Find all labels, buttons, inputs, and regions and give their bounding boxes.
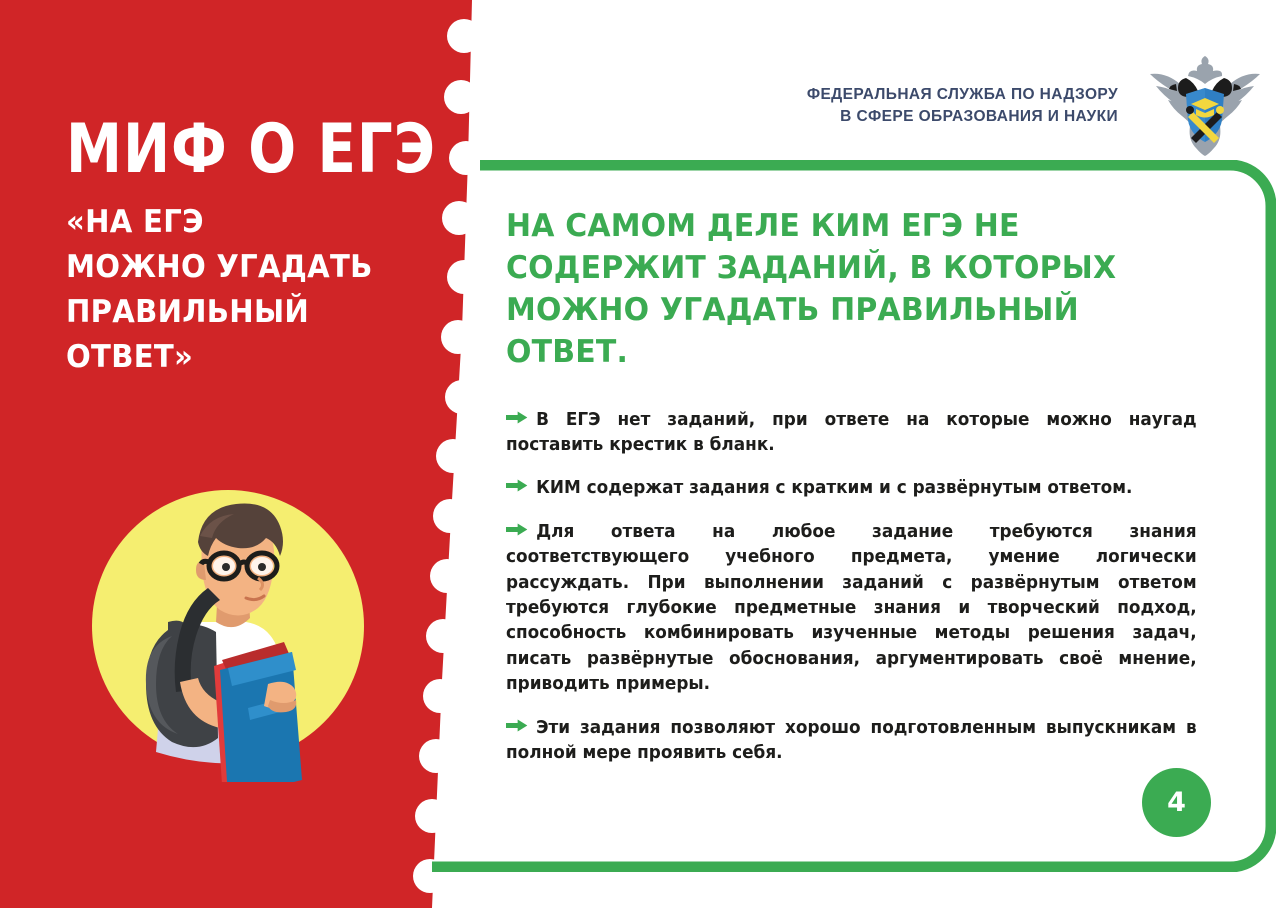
myth-quote-line: ПРАВИЛЬНЫЙ [66,290,404,335]
myth-quote-line: «НА ЕГЭ [66,200,404,245]
green-right-arrow-icon [506,479,527,492]
page-title: МИФ О ЕГЭ [66,118,434,183]
org-title-line2: В СФЕРЕ ОБРАЗОВАНИЯ И НАУКИ [807,106,1118,128]
slide-page: МИФ О ЕГЭ «НА ЕГЭ МОЖНО УГАДАТЬ ПРАВИЛЬН… [0,0,1286,908]
green-right-arrow-icon [506,719,527,732]
myth-quote-line: МОЖНО УГАДАТЬ [66,245,404,290]
student-illustration [72,470,384,782]
list-item: В ЕГЭ нет заданий, при ответе на которые… [506,408,1197,459]
list-item: Эти задания позволяют хорошо подготовлен… [506,716,1197,767]
list-item-text: В ЕГЭ нет заданий, при ответе на которые… [506,410,1197,455]
list-item: Для ответа на любое задание требуются зн… [506,520,1197,698]
list-item-text: Эти задания позволяют хорошо подготовлен… [506,718,1197,763]
org-title-line1: ФЕДЕРАЛЬНАЯ СЛУЖБА ПО НАДЗОРУ [807,84,1118,106]
list-item-text: КИМ содержат задания с кратким и с развё… [536,478,1132,498]
page-number-badge: 4 [1142,768,1211,837]
rosobrnadzor-emblem-icon [1146,52,1264,156]
myth-quote-line: ОТВЕТ» [66,335,404,380]
myth-quote: «НА ЕГЭ МОЖНО УГАДАТЬ ПРАВИЛЬНЫЙ ОТВЕТ» [66,200,404,380]
content-area: НА САМОМ ДЕЛЕ КИМ ЕГЭ НЕ СОДЕРЖИТ ЗАДАНИ… [506,206,1218,784]
answer-heading: НА САМОМ ДЕЛЕ КИМ ЕГЭ НЕ СОДЕРЖИТ ЗАДАНИ… [506,206,1182,374]
list-item-text: Для ответа на любое задание требуются зн… [506,522,1197,694]
green-right-arrow-icon [506,411,527,424]
green-right-arrow-icon [506,523,527,536]
organization-title: ФЕДЕРАЛЬНАЯ СЛУЖБА ПО НАДЗОРУ В СФЕРЕ ОБ… [807,84,1118,129]
list-item: КИМ содержат задания с кратким и с развё… [506,476,1197,501]
bullet-list: В ЕГЭ нет заданий, при ответе на которые… [506,408,1218,767]
